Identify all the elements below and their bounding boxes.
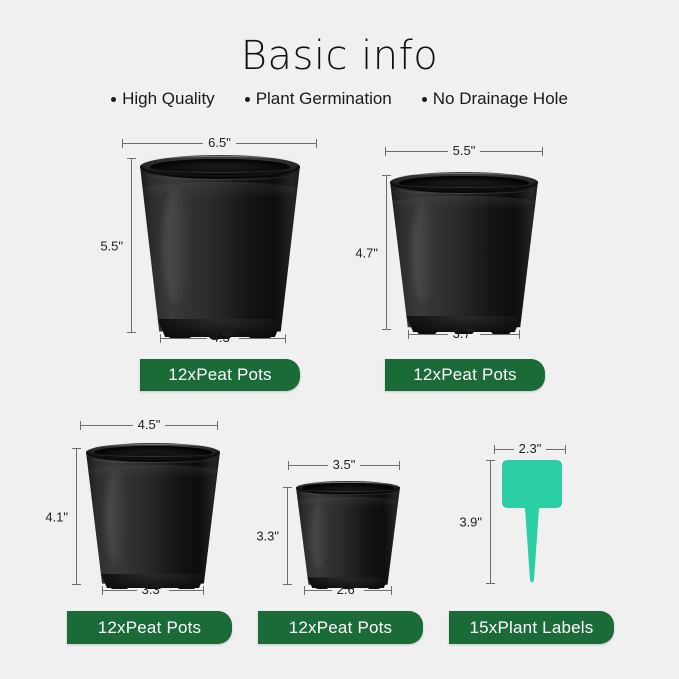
banner-pot-large: 12xPeat Pots bbox=[140, 359, 300, 391]
dimension-line bbox=[490, 461, 491, 583]
dimension-top-diameter-pot-small: 4.5" bbox=[80, 418, 218, 432]
bullet-dot-icon bbox=[111, 97, 116, 102]
feature-bullet-label: Plant Germination bbox=[256, 89, 392, 109]
dimension-cap bbox=[283, 584, 292, 585]
banner-label: 12xPeat Pots bbox=[413, 365, 517, 385]
dimension-base-diameter-pot-mini: 2.6" bbox=[304, 583, 392, 597]
dimension-line bbox=[495, 449, 514, 450]
dimension-line bbox=[287, 488, 288, 584]
dimension-line bbox=[289, 465, 328, 466]
banner-plant-label: 15xPlant Labels bbox=[449, 611, 614, 644]
infographic-page: Basic info High Quality Plant Germinatio… bbox=[0, 0, 679, 679]
pot-rim-highlight bbox=[146, 156, 293, 165]
pot-rim-highlight bbox=[300, 482, 396, 487]
dimension-line bbox=[305, 590, 332, 591]
pot-illustration-small bbox=[86, 443, 220, 588]
feature-bullet-label: High Quality bbox=[122, 89, 215, 109]
pot-ridge bbox=[90, 454, 216, 463]
dimension-line bbox=[239, 338, 285, 339]
dimension-cap bbox=[203, 586, 204, 595]
dimension-line bbox=[409, 334, 448, 335]
banner-pot-small: 12xPeat Pots bbox=[67, 611, 232, 644]
pot-rim-highlight bbox=[396, 173, 532, 181]
dimension-value: 3.5" bbox=[328, 458, 361, 471]
pot-band bbox=[143, 182, 297, 198]
plant-label-shape bbox=[502, 460, 562, 583]
dimension-line bbox=[480, 151, 542, 152]
pot-band bbox=[298, 497, 398, 507]
dimension-line bbox=[169, 590, 203, 591]
banner-label: 12xPeat Pots bbox=[289, 618, 393, 638]
banner-label: 12xPeat Pots bbox=[168, 365, 272, 385]
pot-ridge bbox=[394, 184, 533, 194]
dimension-line bbox=[103, 590, 137, 591]
dimension-line bbox=[386, 151, 448, 152]
dimension-value: 4.7" bbox=[355, 243, 378, 262]
dimension-top-diameter-pot-mini: 3.5" bbox=[288, 458, 400, 472]
dimension-value: 2.3" bbox=[514, 442, 547, 455]
plant-label-illustration bbox=[494, 458, 570, 586]
dimension-cap bbox=[391, 586, 392, 595]
dimension-value: 3.3" bbox=[137, 583, 170, 596]
pot-highlight bbox=[411, 204, 436, 303]
feature-bullet-label: No Drainage Hole bbox=[433, 89, 568, 109]
banner-pot-mini: 12xPeat Pots bbox=[258, 611, 423, 644]
dimension-line bbox=[165, 425, 217, 426]
dimension-cap bbox=[127, 332, 136, 333]
dimension-height-pot-large: 5.5" bbox=[127, 158, 136, 333]
feature-bullet-no-drainage-hole: No Drainage Hole bbox=[422, 89, 568, 109]
pot-illustration-large bbox=[140, 155, 300, 337]
feature-bullet-plant-germination: Plant Germination bbox=[245, 89, 392, 109]
dimension-value: 3.3" bbox=[256, 527, 279, 546]
dimension-line bbox=[386, 176, 387, 329]
pot-highlight bbox=[162, 191, 189, 304]
pot-highlight bbox=[311, 502, 329, 568]
dimension-line bbox=[81, 425, 133, 426]
pot-rim-highlight bbox=[91, 444, 214, 451]
page-title: Basic info bbox=[0, 33, 679, 79]
dimension-line bbox=[131, 159, 132, 332]
dimension-height-pot-small: 4.1" bbox=[72, 448, 81, 585]
feature-bullet-list: High Quality Plant Germination No Draina… bbox=[0, 89, 679, 109]
dimension-line bbox=[360, 465, 399, 466]
dimension-base-diameter-pot-medium: 3.7" bbox=[408, 327, 520, 341]
dimension-top-diameter-pot-medium: 5.5" bbox=[385, 144, 543, 158]
dimension-base-diameter-pot-large: 4.3" bbox=[160, 331, 286, 345]
dimension-cap bbox=[72, 584, 81, 585]
banner-pot-medium: 12xPeat Pots bbox=[385, 359, 545, 391]
dimension-line bbox=[76, 449, 77, 584]
dimension-line bbox=[364, 590, 391, 591]
banner-label: 12xPeat Pots bbox=[98, 618, 202, 638]
dimension-value: 3.9" bbox=[459, 513, 482, 532]
dimension-cap bbox=[399, 461, 400, 470]
dimension-value: 5.5" bbox=[448, 144, 481, 157]
dimension-line bbox=[161, 338, 207, 339]
dimension-cap bbox=[565, 445, 566, 454]
dimension-value: 5.5" bbox=[100, 236, 123, 255]
banner-label: 15xPlant Labels bbox=[470, 618, 594, 638]
dimension-width-plant-label: 2.3" bbox=[494, 442, 566, 456]
dimension-line bbox=[236, 143, 316, 144]
dimension-height-pot-mini: 3.3" bbox=[283, 487, 292, 585]
pot-ridge bbox=[145, 169, 295, 180]
pot-band bbox=[89, 465, 218, 478]
dimension-value: 4.3" bbox=[207, 331, 240, 344]
bullet-dot-icon bbox=[422, 97, 427, 102]
dimension-base-diameter-pot-small: 3.3" bbox=[102, 583, 204, 597]
dimension-value: 2.6" bbox=[332, 583, 365, 596]
pot-highlight bbox=[105, 472, 128, 562]
dimension-line bbox=[480, 334, 519, 335]
dimension-line bbox=[546, 449, 565, 450]
dimension-value: 3.7" bbox=[448, 327, 481, 340]
pot-illustration-medium bbox=[390, 172, 538, 332]
dimension-cap bbox=[542, 147, 543, 156]
dimension-cap bbox=[519, 330, 520, 339]
dimension-value: 6.5" bbox=[203, 136, 236, 149]
feature-bullet-high-quality: High Quality bbox=[111, 89, 215, 109]
pot-illustration-mini bbox=[296, 481, 400, 588]
bullet-dot-icon bbox=[245, 97, 250, 102]
dimension-cap bbox=[217, 421, 218, 430]
dimension-cap bbox=[285, 334, 286, 343]
dimension-cap bbox=[316, 139, 317, 148]
dimension-value: 4.1" bbox=[45, 507, 68, 526]
dimension-line bbox=[123, 143, 203, 144]
dimension-value: 4.5" bbox=[133, 418, 166, 431]
dimension-top-diameter-pot-large: 6.5" bbox=[122, 136, 317, 150]
